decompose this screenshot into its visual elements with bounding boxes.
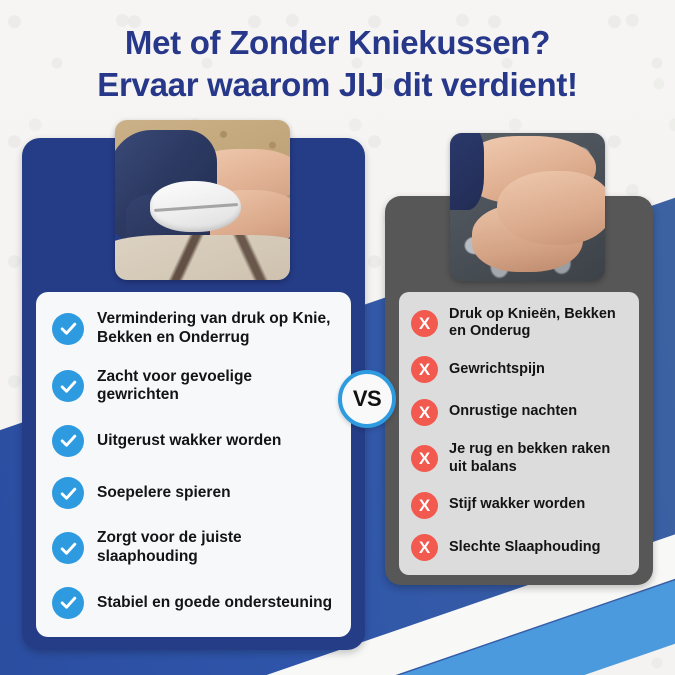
list-item: Uitgerust wakker worden — [52, 425, 337, 457]
photo-with-knee-pillow — [115, 120, 290, 280]
x-circle-icon: X — [411, 534, 438, 561]
benefits-panel: Vermindering van druk op Knie, Bekken en… — [36, 292, 351, 637]
x-circle-icon: X — [411, 399, 438, 426]
list-item-label: Uitgerust wakker worden — [97, 432, 281, 451]
list-item: Stabiel en goede ondersteuning — [52, 587, 337, 619]
list-item: X Onrustige nachten — [411, 399, 629, 426]
x-circle-icon: X — [411, 445, 438, 472]
list-item-label: Gewrichtspijn — [449, 361, 545, 378]
page-title-line-1: Met of Zonder Kniekussen? — [0, 22, 675, 64]
list-item: X Gewrichtspijn — [411, 356, 629, 383]
check-circle-icon — [52, 370, 84, 402]
page-title-line-2: Ervaar waarom JIJ dit verdient! — [0, 64, 675, 106]
check-circle-icon — [52, 587, 84, 619]
check-circle-icon — [52, 313, 84, 345]
list-item-label: Stijf wakker worden — [449, 496, 585, 513]
x-circle-icon: X — [411, 310, 438, 337]
list-item: X Stijf wakker worden — [411, 492, 629, 519]
list-item-label: Zorgt voor de juiste slaaphouding — [97, 529, 337, 566]
check-circle-icon — [52, 425, 84, 457]
list-item-label: Zacht voor gevoelige gewrichten — [97, 368, 337, 405]
problems-panel: X Druk op Knieën, Bekken en Onderug X Ge… — [399, 292, 639, 575]
list-item-label: Soepelere spieren — [97, 484, 231, 503]
check-circle-icon — [52, 532, 84, 564]
photo-shirt — [450, 133, 484, 210]
problems-list: X Druk op Knieën, Bekken en Onderug X Ge… — [399, 292, 639, 575]
list-item-label: Slechte Slaaphouding — [449, 539, 600, 556]
list-item: X Druk op Knieën, Bekken en Onderug — [411, 306, 629, 341]
photo-without-knee-pillow — [450, 133, 605, 281]
list-item-label: Vermindering van druk op Knie, Bekken en… — [97, 310, 337, 347]
check-circle-icon — [52, 477, 84, 509]
list-item: Soepelere spieren — [52, 477, 337, 509]
comparison-infographic: Met of Zonder Kniekussen? Ervaar waarom … — [0, 0, 675, 675]
list-item-label: Stabiel en goede ondersteuning — [97, 594, 332, 613]
vs-badge: VS — [338, 370, 396, 428]
list-item: Zorgt voor de juiste slaaphouding — [52, 529, 337, 566]
photo-rug — [115, 235, 290, 280]
list-item-label: Druk op Knieën, Bekken en Onderug — [449, 306, 629, 341]
benefits-list: Vermindering van druk op Knie, Bekken en… — [36, 292, 351, 637]
list-item-label: Je rug en bekken raken uit balans — [449, 441, 629, 476]
x-circle-icon: X — [411, 356, 438, 383]
list-item: Zacht voor gevoelige gewrichten — [52, 368, 337, 405]
list-item: X Je rug en bekken raken uit balans — [411, 441, 629, 476]
page-title: Met of Zonder Kniekussen? Ervaar waarom … — [0, 22, 675, 106]
list-item: X Slechte Slaaphouding — [411, 534, 629, 561]
list-item: Vermindering van druk op Knie, Bekken en… — [52, 310, 337, 347]
x-circle-icon: X — [411, 492, 438, 519]
list-item-label: Onrustige nachten — [449, 403, 577, 420]
